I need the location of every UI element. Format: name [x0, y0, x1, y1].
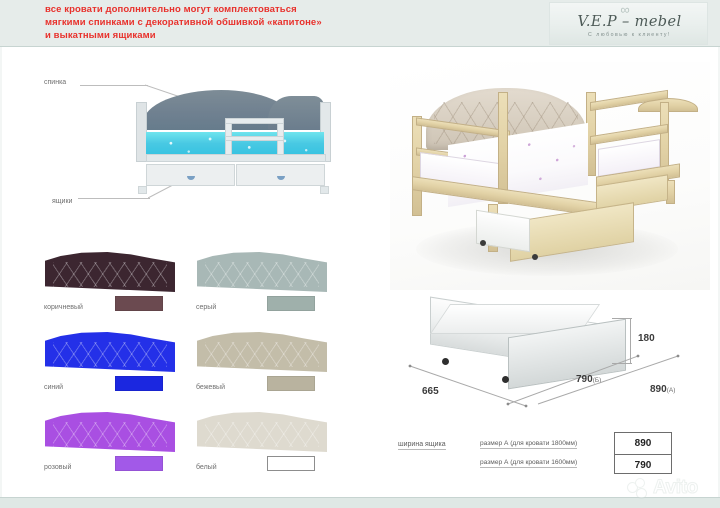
swatch-item-3[interactable]: бежевый [192, 328, 347, 406]
label-backrest: спинка [44, 79, 66, 86]
product-photo [390, 62, 710, 290]
swatch-chip-0 [115, 296, 163, 311]
swatch-label-0: коричневый [44, 304, 83, 311]
left-edge [0, 47, 2, 497]
photo-safety-post [498, 92, 508, 204]
headline-line-3: и выкатными ящиками [45, 29, 375, 42]
schematic-leg-right [320, 186, 329, 194]
swatch-item-2[interactable]: синий [40, 328, 195, 406]
headline-line-1: все кровати дополнительно могут комплект… [45, 3, 375, 16]
swatch-label-5: белый [196, 464, 217, 471]
swatch-item-4[interactable]: розовый [40, 408, 195, 486]
swatch-label-2: синий [44, 384, 63, 391]
swatch-label-4: розовый [44, 464, 71, 471]
dim-width-suffix: (А) [667, 387, 676, 394]
swatch-headboard-0 [45, 252, 175, 292]
swatch-chip-2 [115, 376, 163, 391]
swatch-chip-4 [115, 456, 163, 471]
swatch-headboard-3 [197, 332, 327, 372]
photo-caster-right [532, 254, 538, 260]
logo-tagline: С любовью к клиенту! [550, 32, 709, 38]
leader-backrest-h [80, 85, 148, 86]
dimtick-height-top [612, 318, 632, 319]
logo-wordmark: V.E.P – mebel [550, 14, 709, 30]
spec-row-value-1: 790 [615, 455, 671, 476]
swatch-item-0[interactable]: коричневый [40, 248, 195, 326]
swatch-chip-1 [267, 296, 315, 311]
schematic-side-rail [146, 154, 326, 162]
spec-table: ширина ящика размер А (для кровати 1800м… [398, 432, 688, 476]
spec-caption: ширина ящика [398, 441, 446, 450]
spec-values-box: 890 790 [614, 432, 672, 474]
schematic-leg-left [138, 186, 147, 194]
avito-dot-1 [627, 482, 638, 493]
swatch-item-1[interactable]: серый [192, 248, 347, 326]
catalog-page: все кровати дополнительно могут комплект… [0, 0, 720, 508]
swatch-headboard-4 [45, 412, 175, 452]
page-headline: все кровати дополнительно могут комплект… [45, 3, 375, 42]
avito-dot-2 [635, 478, 645, 488]
dim-height-value: 180 [638, 333, 655, 344]
spec-row-label-0: размер А (для кровати 1800мм) [480, 440, 577, 449]
swatch-item-5[interactable]: белый [192, 408, 347, 486]
leader-drawers-h [78, 198, 150, 199]
dim-width-value: 890 [650, 384, 667, 395]
swatch-label-3: бежевый [196, 384, 225, 391]
swatch-headboard-2 [45, 332, 175, 372]
schematic-drawer-left [146, 164, 235, 186]
dim-front-value: 665 [422, 386, 439, 397]
headline-line-2: мягкими спинками с декоративной обшивкой… [45, 16, 375, 29]
dim-width: 890(А) [650, 384, 675, 395]
swatch-headboard-1 [197, 252, 327, 292]
dimline-width [536, 352, 682, 406]
spec-row-value-0: 890 [615, 433, 671, 455]
photo-caster-left [480, 240, 486, 246]
swatch-label-1: серый [196, 304, 216, 311]
swatch-headboard-5 [197, 412, 327, 452]
spec-row-label-1: размер А (для кровати 1600мм) [480, 459, 577, 468]
swatch-chip-5 [267, 456, 315, 471]
label-drawers: ящики [52, 198, 72, 205]
schematic-drawer-right [236, 164, 325, 186]
footer-band [0, 497, 720, 508]
swatch-chip-3 [267, 376, 315, 391]
bed-schematic [108, 88, 358, 198]
drawer-dimension-drawing: 180 790(Б) 890(А) 665 [398, 300, 698, 405]
brand-logo: ∞ V.E.P – mebel С любовью к клиенту! [549, 2, 708, 45]
